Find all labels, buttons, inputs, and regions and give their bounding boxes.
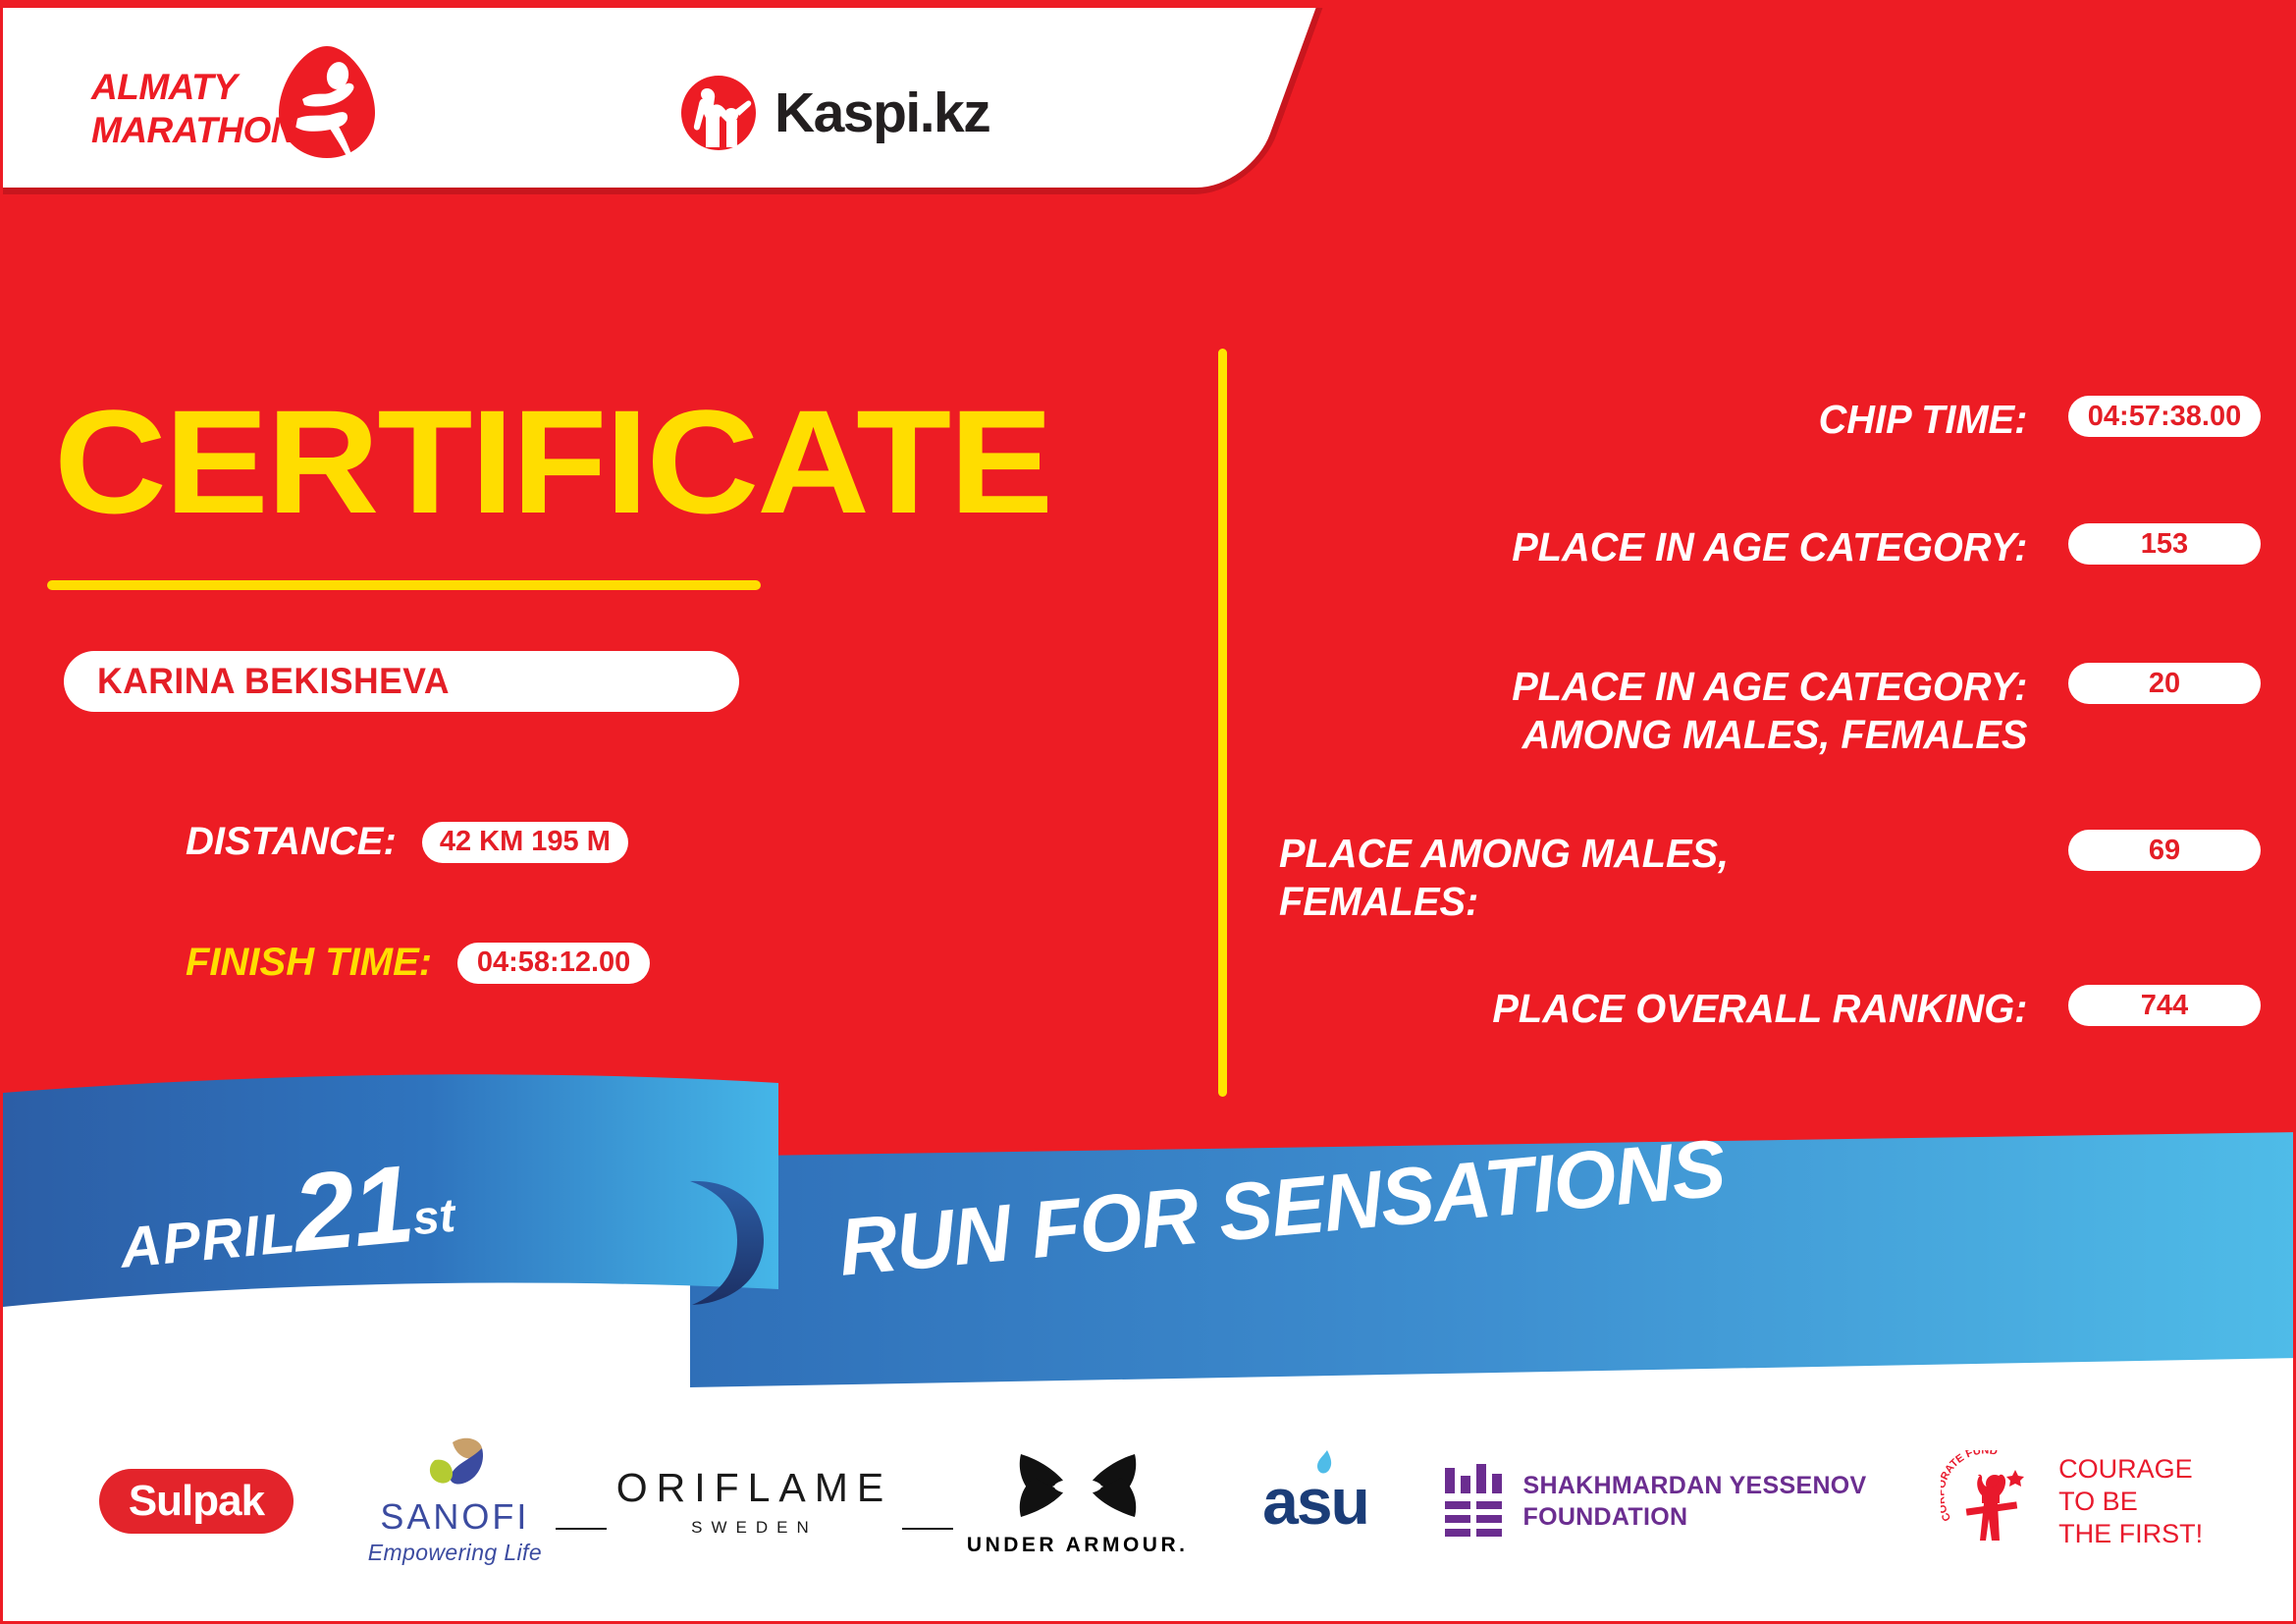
stat-label: PLACE IN AGE CATEGORY: (1279, 523, 2027, 571)
stat-label: PLACE IN AGE CATEGORY: AMONG MALES, FEMA… (1279, 663, 2027, 759)
stat-row-place-among-gender: PLACE AMONG MALES, FEMALES: 69 (1279, 830, 2261, 926)
sanofi-logo: SANOFI Empowering Life (368, 1436, 542, 1566)
distance-row: DISTANCE: 42 KM 195 M (186, 820, 628, 864)
stat-row-chip-time: CHIP TIME: 04:57:38.00 (1279, 396, 2261, 444)
courage-fund-logo: CORPORATE FUND COURAGE TO BE THE FIRST! (1941, 1450, 2203, 1552)
courage-fund-wordmark: COURAGE TO BE THE FIRST! (2058, 1453, 2203, 1550)
courage-fund-child-icon: CORPORATE FUND (1941, 1450, 2043, 1552)
brand-line-1: ALMATY (91, 66, 302, 109)
sulpak-logo: Sulpak (99, 1469, 294, 1534)
yessenov-bars-icon (1443, 1464, 1504, 1539)
sanofi-mark-icon (413, 1436, 496, 1491)
stat-value: 744 (2068, 985, 2261, 1026)
column-divider-rule (1218, 349, 1227, 1097)
stat-row-place-age-category: PLACE IN AGE CATEGORY: 153 (1279, 523, 2261, 571)
yessenov-logo: SHAKHMARDAN YESSENOV FOUNDATION (1443, 1464, 1867, 1539)
asu-droplet-icon (1313, 1448, 1337, 1476)
stat-label: PLACE AMONG MALES, FEMALES: (1279, 830, 2027, 926)
ribbon-ordinal: st (410, 1190, 456, 1246)
stat-label: CHIP TIME: (1279, 396, 2027, 444)
yessenov-wordmark: SHAKHMARDAN YESSENOV FOUNDATION (1523, 1470, 1867, 1533)
asu-wordmark: asu (1262, 1465, 1368, 1538)
stat-row-place-age-category-gender: PLACE IN AGE CATEGORY: AMONG MALES, FEMA… (1279, 663, 2261, 759)
sponsor-under-armour: UNDER ARMOUR. (967, 1442, 1189, 1560)
sponsor-asu: asu (1262, 1442, 1368, 1560)
sanofi-wordmark: SANOFI (368, 1496, 542, 1538)
under-armour-wordmark: UNDER ARMOUR. (967, 1534, 1189, 1557)
certificate-title: CERTIFICATE (54, 388, 1051, 535)
under-armour-logo: UNDER ARMOUR. (967, 1446, 1189, 1557)
certificate-card: ALMATY MARATHON Kaspi.kz CERTIFICATE KAR… (0, 0, 2296, 1624)
title-underline-rule (47, 580, 761, 590)
finish-time-label: FINISH TIME: (186, 941, 432, 985)
brand-line-2: MARATHON (91, 109, 302, 152)
ribbon-day: 21 (289, 1142, 417, 1274)
oriflame-tagline: SWEDEN (616, 1518, 893, 1538)
sponsor-yessenov-foundation: SHAKHMARDAN YESSENOV FOUNDATION (1443, 1442, 1867, 1560)
almaty-marathon-wordmark: ALMATY MARATHON (91, 66, 302, 152)
sponsor-courage-fund: CORPORATE FUND COURAGE TO BE THE FIRST! (1941, 1442, 2203, 1560)
stat-row-place-overall: PLACE OVERALL RANKING: 744 (1279, 985, 2261, 1033)
oriflame-logo: ORIFLAME SWEDEN (616, 1465, 893, 1538)
asu-logo: asu (1262, 1464, 1368, 1539)
ribbon-month: APRIL (118, 1201, 298, 1280)
sanofi-tagline: Empowering Life (368, 1540, 542, 1566)
stat-value: 69 (2068, 830, 2261, 871)
sponsor-sulpak: Sulpak (99, 1442, 294, 1560)
under-armour-mark-icon (1015, 1446, 1141, 1525)
stat-value: 04:57:38.00 (2068, 396, 2261, 437)
athlete-name-value: KARINA BEKISHEVA (97, 661, 450, 702)
stat-label: PLACE OVERALL RANKING: (1279, 985, 2027, 1033)
stat-value: 20 (2068, 663, 2261, 704)
sponsor-sanofi: SANOFI Empowering Life (368, 1442, 542, 1560)
distance-label: DISTANCE: (186, 820, 397, 864)
distance-value: 42 KM 195 M (422, 822, 628, 863)
almaty-marathon-logo: ALMATY MARATHON (91, 44, 425, 162)
sponsor-strip: Sulpak SANOFI Empowering Life ORIFLAME S… (3, 1395, 2296, 1621)
athlete-name-field: KARINA BEKISHEVA (64, 651, 739, 712)
finish-time-value: 04:58:12.00 (457, 943, 650, 984)
kaspi-logo: Kaspi.kz (680, 74, 989, 152)
stat-value: 153 (2068, 523, 2261, 565)
finish-time-row: FINISH TIME: 04:58:12.00 (186, 941, 650, 985)
top-edge-rule (3, 3, 2296, 8)
kaspi-family-circle-icon (680, 75, 757, 151)
sponsor-oriflame: ORIFLAME SWEDEN (616, 1442, 893, 1560)
oriflame-wordmark: ORIFLAME (616, 1465, 893, 1511)
kaspi-wordmark: Kaspi.kz (774, 81, 989, 145)
